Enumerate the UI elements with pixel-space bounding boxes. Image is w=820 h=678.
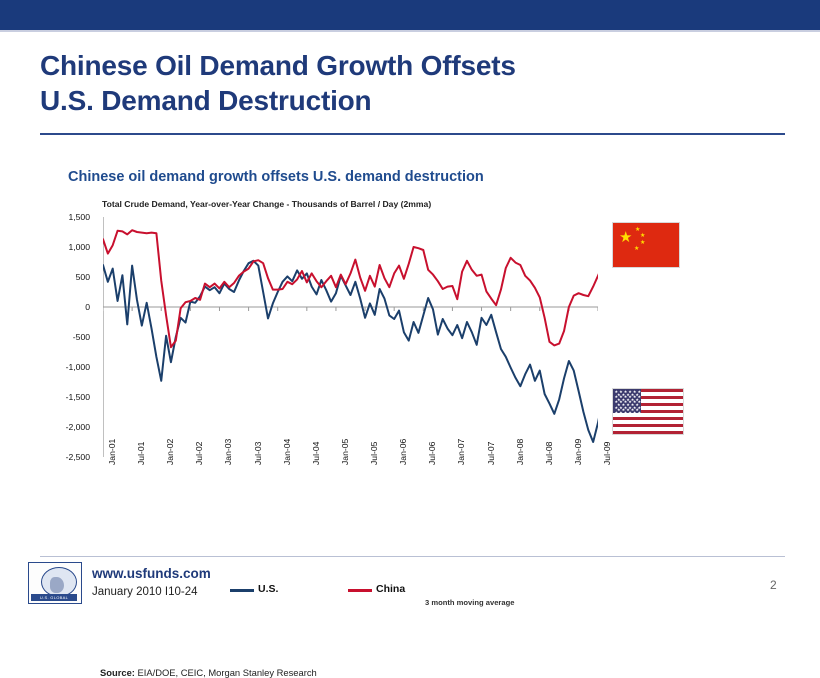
us-flag-canton: ★★★★★★★★★★★★★★★★★★★★★★★★★★★★★★★★★★★★★★★★… <box>613 389 641 413</box>
us-flag-star: ★ <box>633 411 637 415</box>
y-tick-label: -500 <box>48 332 90 342</box>
legend-swatch <box>230 589 254 592</box>
y-tick-label: 0 <box>48 302 90 312</box>
y-tick-label: 1,500 <box>48 212 90 222</box>
us-flag-star: ★ <box>624 411 628 415</box>
y-tick-label: -1,000 <box>48 362 90 372</box>
banner-underline <box>0 30 820 32</box>
us-flag-star: ★ <box>619 411 623 415</box>
x-tick-label: Jul-08 <box>544 442 554 465</box>
y-tick-label: -2,500 <box>48 452 90 462</box>
x-tick-label: Jan-08 <box>515 439 525 465</box>
x-tick-label: Jul-06 <box>427 442 437 465</box>
chart-plot-area <box>103 217 598 457</box>
x-tick-label: Jul-01 <box>136 442 146 465</box>
y-tick-label: -2,000 <box>48 422 90 432</box>
title-divider <box>40 133 785 135</box>
x-tick-label: Jan-02 <box>165 439 175 465</box>
footer-date: January 2010 I10-24 <box>92 586 198 598</box>
x-tick-label: Jul-03 <box>253 442 263 465</box>
x-tick-label: Jan-04 <box>282 439 292 465</box>
legend-swatch <box>348 589 372 592</box>
x-tick-label: Jan-03 <box>223 439 233 465</box>
chart-source-label: Source: <box>100 667 135 678</box>
legend-label: China <box>376 583 405 595</box>
china-flag-icon: ★ ★ ★ ★ ★ <box>612 222 680 268</box>
moving-average-note: 3 month moving average <box>425 598 514 607</box>
x-tick-label: Jan-06 <box>398 439 408 465</box>
chart-svg <box>103 217 598 457</box>
us-flag-star: ★ <box>628 411 632 415</box>
footer-divider <box>40 556 785 557</box>
chart-title: Chinese oil demand growth offsets U.S. d… <box>68 169 484 185</box>
us-flag-stripe <box>613 431 683 434</box>
x-tick-label: Jan-05 <box>340 439 350 465</box>
x-tick-label: Jan-09 <box>573 439 583 465</box>
logo-caption: U.S. GLOBAL INVESTORS <box>31 594 77 601</box>
chart-source-text: EIA/DOE, CEIC, Morgan Stanley Research <box>135 667 317 678</box>
us-flag-icon: ★★★★★★★★★★★★★★★★★★★★★★★★★★★★★★★★★★★★★★★★… <box>612 388 684 435</box>
usfunds-logo: U.S. GLOBAL INVESTORS <box>28 562 82 604</box>
us-flag-star: ★ <box>638 411 642 415</box>
top-banner <box>0 0 820 30</box>
china-flag-big-star: ★ <box>619 230 632 245</box>
y-tick-label: -1,500 <box>48 392 90 402</box>
x-tick-label: Jan-01 <box>107 439 117 465</box>
legend-label: U.S. <box>258 583 278 595</box>
y-tick-label: 500 <box>48 272 90 282</box>
x-tick-label: Jan-07 <box>456 439 466 465</box>
x-tick-label: Jul-09 <box>602 442 612 465</box>
x-tick-label: Jul-02 <box>194 442 204 465</box>
chart-card: Chinese oil demand growth offsets U.S. d… <box>40 155 740 545</box>
page-title-line-2: U.S. Demand Destruction <box>40 83 740 118</box>
us-flag-star: ★ <box>615 411 619 415</box>
page-number: 2 <box>770 578 777 592</box>
chart-source: Source: EIA/DOE, CEIC, Morgan Stanley Re… <box>100 667 317 678</box>
x-tick-label: Jul-05 <box>369 442 379 465</box>
x-tick-label: Jul-04 <box>311 442 321 465</box>
china-flag-small-star-2: ★ <box>640 233 645 239</box>
chart-series-group <box>103 230 598 442</box>
china-flag-small-star-4: ★ <box>634 246 639 252</box>
globe-icon <box>41 567 77 597</box>
chart-subtitle: Total Crude Demand, Year-over-Year Chang… <box>102 199 431 209</box>
page-title: Chinese Oil Demand Growth Offsets U.S. D… <box>40 48 740 118</box>
china-flag-small-star-3: ★ <box>640 240 645 246</box>
y-tick-label: 1,000 <box>48 242 90 252</box>
page-title-line-1: Chinese Oil Demand Growth Offsets <box>40 48 740 83</box>
footer-url[interactable]: www.usfunds.com <box>92 566 211 581</box>
x-tick-label: Jul-07 <box>486 442 496 465</box>
globe-landmass <box>50 577 64 593</box>
